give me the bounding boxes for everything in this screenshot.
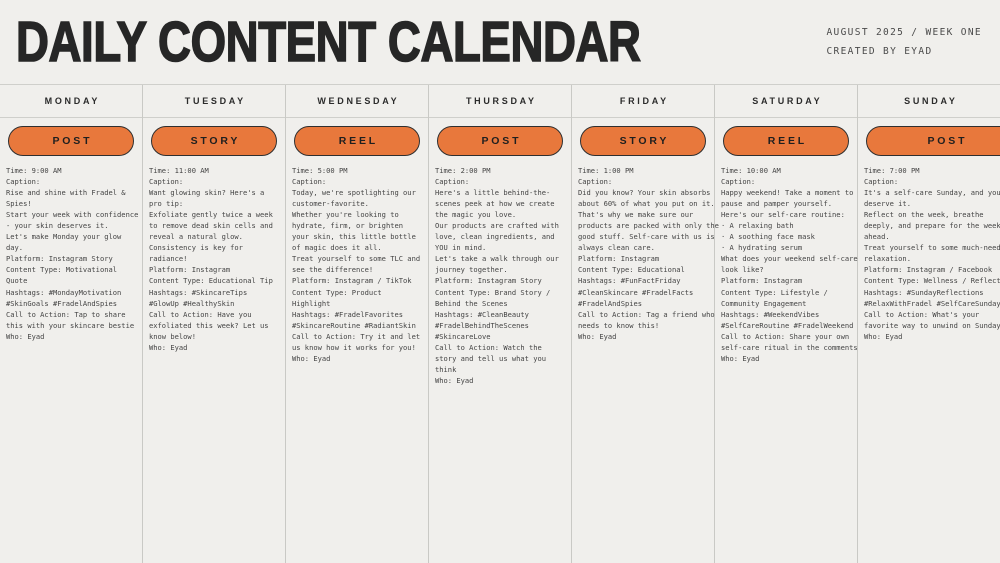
- header-meta: AUGUST 2025 / WEEK ONE CREATED BY EYAD: [826, 23, 986, 62]
- page-header: DAILY CONTENT CALENDAR AUGUST 2025 / WEE…: [0, 0, 1000, 84]
- content-type-badge-thursday[interactable]: POST: [437, 126, 563, 156]
- day-columns: MONDAY POST Time: 9:00 AM Caption: Rise …: [0, 85, 1000, 563]
- content-type-badge-tuesday[interactable]: STORY: [151, 126, 277, 156]
- day-column-wednesday: WEDNESDAY REEL Time: 5:00 PM Caption: To…: [286, 85, 429, 563]
- content-type-badge-saturday[interactable]: REEL: [723, 126, 849, 156]
- page-title: DAILY CONTENT CALENDAR: [16, 15, 641, 70]
- day-column-tuesday: TUESDAY STORY Time: 11:00 AM Caption: Wa…: [143, 85, 286, 563]
- content-type-badge-friday[interactable]: STORY: [580, 126, 706, 156]
- calendar-grid: MONDAY POST Time: 9:00 AM Caption: Rise …: [0, 84, 1000, 563]
- day-details-friday: Time: 1:00 PM Caption: Did you know? You…: [577, 165, 709, 342]
- content-type-badge-monday[interactable]: POST: [8, 126, 134, 156]
- calendar-author: CREATED BY EYAD: [826, 42, 982, 61]
- day-details-wednesday: Time: 5:00 PM Caption: Today, we're spot…: [291, 165, 423, 364]
- day-column-thursday: THURSDAY POST Time: 2:00 PM Caption: Her…: [429, 85, 572, 563]
- day-column-sunday: SUNDAY POST Time: 7:00 PM Caption: It's …: [858, 85, 1000, 563]
- day-header-thursday: THURSDAY: [434, 85, 566, 117]
- day-header-sunday: SUNDAY: [863, 85, 996, 117]
- day-column-monday: MONDAY POST Time: 9:00 AM Caption: Rise …: [0, 85, 143, 563]
- day-column-saturday: SATURDAY REEL Time: 10:00 AM Caption: Ha…: [715, 85, 858, 563]
- day-details-sunday: Time: 7:00 PM Caption: It's a self-care …: [863, 165, 1000, 342]
- day-details-thursday: Time: 2:00 PM Caption: Here's a little b…: [434, 165, 566, 386]
- calendar-period: AUGUST 2025 / WEEK ONE: [826, 23, 982, 42]
- day-details-saturday: Time: 10:00 AM Caption: Happy weekend! T…: [720, 165, 852, 364]
- day-details-monday: Time: 9:00 AM Caption: Rise and shine wi…: [5, 165, 137, 342]
- day-header-monday: MONDAY: [5, 85, 137, 117]
- day-header-wednesday: WEDNESDAY: [291, 85, 423, 117]
- content-type-badge-sunday[interactable]: POST: [866, 126, 1000, 156]
- day-details-tuesday: Time: 11:00 AM Caption: Want glowing ski…: [148, 165, 280, 353]
- content-type-badge-wednesday[interactable]: REEL: [294, 126, 420, 156]
- day-header-saturday: SATURDAY: [720, 85, 852, 117]
- day-header-friday: FRIDAY: [577, 85, 709, 117]
- day-column-friday: FRIDAY STORY Time: 1:00 PM Caption: Did …: [572, 85, 715, 563]
- day-header-tuesday: TUESDAY: [148, 85, 280, 117]
